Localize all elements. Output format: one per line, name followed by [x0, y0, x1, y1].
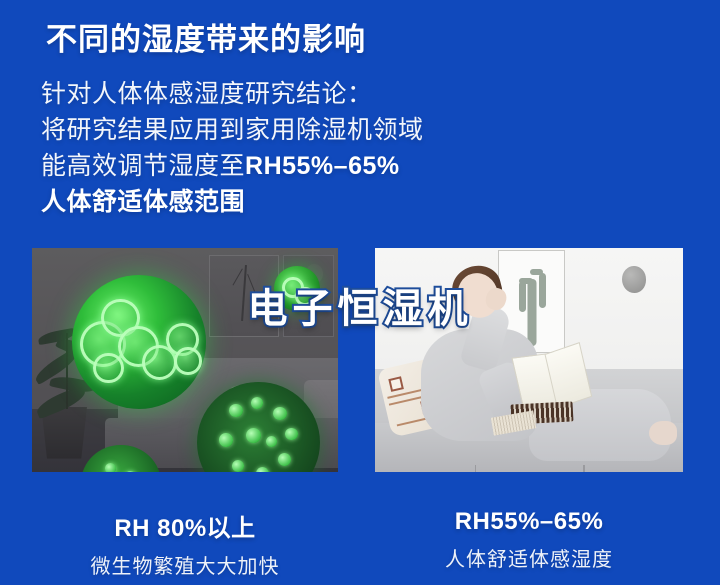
- virus-bump: [266, 436, 277, 447]
- twig-icon: [241, 265, 247, 321]
- microbe-cell: [174, 347, 202, 375]
- caption-left-sub: 微生物繁殖大大加快: [32, 550, 338, 579]
- cactus-icon: [527, 279, 536, 346]
- round-wall-decor: [622, 266, 646, 293]
- virus-bump: [219, 433, 232, 446]
- microbe-cluster-large: [72, 275, 207, 409]
- virus-bump: [125, 471, 135, 472]
- virus-bump: [232, 460, 244, 472]
- caption-left-main: RH 80%以上: [32, 508, 338, 543]
- body-copy: 针对人体体感湿度研究结论： 将研究结果应用到家用除湿机领域 能高效调节湿度至RH…: [41, 76, 601, 220]
- cushion-motif: [389, 377, 405, 393]
- sofa-seam: [475, 465, 477, 472]
- body-line-3: 能高效调节湿度至RH55%–65%: [41, 148, 601, 184]
- light-room-scene: [375, 248, 683, 472]
- virus-bump: [246, 428, 261, 443]
- virus-bump: [278, 453, 291, 466]
- microbe-cluster-small: [274, 266, 320, 311]
- body-line-3-highlight: RH55%–65%: [245, 152, 400, 180]
- body-line-2: 将研究结果应用到家用除湿机领域: [41, 112, 601, 148]
- cactus-arm: [539, 273, 546, 307]
- body-line-3-prefix: 能高效调节湿度至: [41, 152, 245, 180]
- microbe-cell: [93, 353, 123, 383]
- photo-panel-right: [375, 248, 683, 472]
- caption-right-sub: 人体舒适体感湿度: [375, 543, 683, 572]
- virus-bump: [256, 467, 269, 472]
- virus-bump: [229, 404, 242, 417]
- sofa-seam: [583, 465, 585, 472]
- caption-right-main: RH55%–65%: [375, 508, 683, 536]
- dark-room-scene: [32, 248, 338, 472]
- page-title: 不同的湿度带来的影响: [46, 14, 366, 59]
- caption-left: RH 80%以上 微生物繁殖大大加快: [32, 508, 338, 579]
- person-foot: [649, 421, 677, 446]
- cactus-arm: [530, 269, 543, 275]
- photo-panel-left: [32, 248, 338, 472]
- microbe-cell: [295, 287, 315, 306]
- poster-root: 不同的湿度带来的影响 针对人体体感湿度研究结论： 将研究结果应用到家用除湿机领域…: [0, 0, 720, 585]
- body-line-1: 针对人体体感湿度研究结论：: [41, 76, 601, 112]
- virus-bump: [105, 463, 116, 472]
- caption-right: RH55%–65% 人体舒适体感湿度: [375, 508, 683, 572]
- virus-bump: [285, 428, 297, 440]
- virus-bump: [251, 397, 263, 409]
- cactus-arm: [519, 281, 526, 311]
- virus-bump: [273, 407, 286, 420]
- cactus-arm: [519, 278, 533, 284]
- wall-art-frame-left: [209, 255, 278, 338]
- body-line-4: 人体舒适体感范围: [41, 184, 601, 220]
- plant-stem: [66, 333, 68, 409]
